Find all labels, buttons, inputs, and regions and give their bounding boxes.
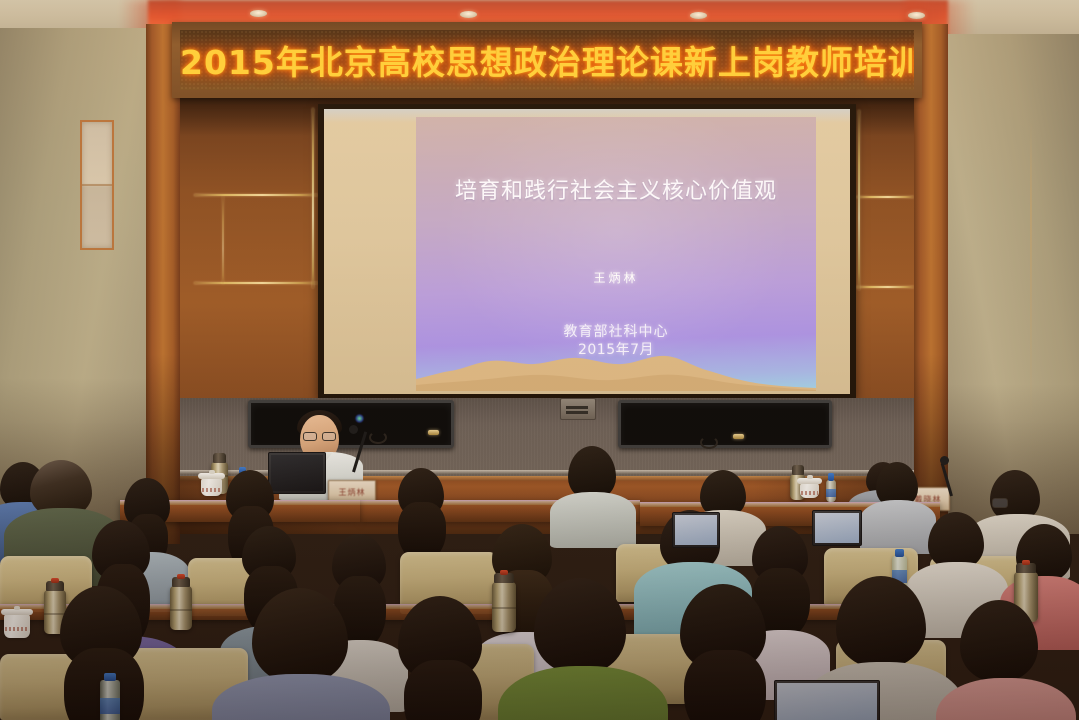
tea-cup[interactable] bbox=[4, 614, 30, 638]
cup-knob bbox=[807, 475, 813, 479]
laptop-screen bbox=[777, 683, 877, 720]
laptop-screen bbox=[815, 513, 859, 543]
led-banner-screen: 2015年北京高校思想政治理论课新上岗教师培训班 bbox=[180, 30, 914, 90]
torso bbox=[860, 500, 936, 554]
ceiling-light bbox=[250, 10, 267, 17]
water-bottle[interactable] bbox=[826, 480, 836, 502]
gold-trim-line bbox=[856, 196, 914, 198]
ceiling-light bbox=[908, 12, 925, 19]
torso bbox=[550, 492, 636, 548]
laptop-screen bbox=[675, 515, 717, 545]
gold-trim-line bbox=[856, 286, 914, 288]
laptop-screen-back bbox=[271, 455, 323, 491]
projection-screen-frame: 培育和践行社会主义核心价值观 王炳林 教育部社科中心 2015年7月 bbox=[318, 104, 856, 399]
slide-title: 培育和践行社会主义核心价值观 bbox=[416, 173, 816, 205]
gold-trim-line bbox=[312, 108, 314, 288]
hair bbox=[684, 650, 766, 720]
hair bbox=[404, 660, 482, 720]
gold-trim-line bbox=[222, 196, 224, 284]
cup-print bbox=[202, 488, 221, 492]
monitor-indicator-light bbox=[428, 430, 439, 435]
gold-trim-line bbox=[194, 194, 318, 196]
water-bottle[interactable] bbox=[100, 680, 120, 720]
thermos-pump-button[interactable] bbox=[1022, 560, 1030, 565]
thermos-band bbox=[170, 609, 192, 611]
tea-cup[interactable] bbox=[201, 478, 222, 496]
monitor-glint bbox=[355, 414, 364, 423]
gold-trim-line bbox=[194, 282, 318, 284]
left-wall bbox=[0, 28, 146, 528]
monitor-indicator-light bbox=[733, 434, 744, 439]
cable-hook-icon bbox=[700, 436, 718, 449]
glasses-lens-icon bbox=[992, 498, 1008, 508]
thermos-cap bbox=[213, 453, 227, 463]
cup-print bbox=[5, 627, 29, 631]
ceiling-light bbox=[690, 12, 707, 19]
slide-author: 王炳林 bbox=[416, 269, 816, 286]
slide-date: 2015年7月 bbox=[416, 339, 816, 359]
thermos-flask[interactable] bbox=[170, 586, 192, 630]
outlet-slot bbox=[566, 406, 588, 409]
panel-split-line bbox=[82, 184, 112, 186]
audience-laptop[interactable] bbox=[774, 680, 880, 720]
thermos-band bbox=[492, 607, 516, 609]
cable-hook-icon bbox=[369, 431, 387, 444]
wood-pillar-left bbox=[146, 24, 180, 544]
audience-laptop[interactable] bbox=[672, 512, 720, 548]
led-banner-frame: 2015年北京高校思想政治理论课新上岗教师培训班 bbox=[172, 22, 922, 98]
speaker-laptop[interactable] bbox=[268, 452, 326, 494]
bottle-label bbox=[100, 698, 120, 715]
tea-cup[interactable] bbox=[800, 483, 819, 498]
thermos-pump-button[interactable] bbox=[51, 578, 59, 583]
right-wall bbox=[948, 34, 1079, 534]
ceiling-light bbox=[460, 11, 477, 18]
bottle-cap bbox=[828, 473, 834, 481]
cup-knob bbox=[209, 470, 215, 474]
wall-monitor-right[interactable] bbox=[618, 400, 832, 448]
head bbox=[534, 578, 626, 674]
projected-slide: 培育和践行社会主义核心价值观 王炳林 教育部社科中心 2015年7月 bbox=[416, 117, 816, 391]
led-banner-text: 2015年北京高校思想政治理论课新上岗教师培训班 bbox=[180, 36, 914, 84]
cup-print bbox=[801, 491, 818, 495]
speaker-glasses-left-lens-icon bbox=[303, 432, 317, 441]
microphone-head-icon bbox=[940, 456, 949, 465]
bottle-label bbox=[826, 489, 836, 497]
thermos-cap bbox=[792, 465, 804, 475]
thermos-pump-button[interactable] bbox=[500, 570, 508, 575]
right-wall-seam bbox=[1030, 120, 1032, 420]
outlet-slot bbox=[566, 411, 588, 414]
bottle-cap bbox=[895, 549, 903, 557]
lecture-hall-photo: 2015年北京高校思想政治理论课新上岗教师培训班 培育和践行社会主义核心价值观 … bbox=[0, 0, 1079, 720]
torso bbox=[936, 678, 1076, 720]
microphone-head-icon bbox=[349, 425, 358, 434]
projection-screen-surface: 培育和践行社会主义核心价值观 王炳林 教育部社科中心 2015年7月 bbox=[324, 109, 850, 394]
thermos-flask[interactable] bbox=[492, 582, 516, 632]
framed-wall-panel-icon bbox=[80, 120, 114, 250]
gold-trim-line bbox=[858, 110, 860, 290]
speaker-glasses-right-lens-icon bbox=[322, 432, 336, 441]
thermos-pump-button[interactable] bbox=[177, 574, 185, 579]
wall-outlet-box bbox=[560, 398, 596, 420]
wall-monitor-left[interactable] bbox=[248, 400, 454, 448]
bottle-cap bbox=[104, 673, 115, 681]
slide-organization: 教育部社科中心 bbox=[416, 321, 816, 341]
cup-knob bbox=[14, 606, 20, 610]
audience-laptop[interactable] bbox=[812, 510, 862, 546]
